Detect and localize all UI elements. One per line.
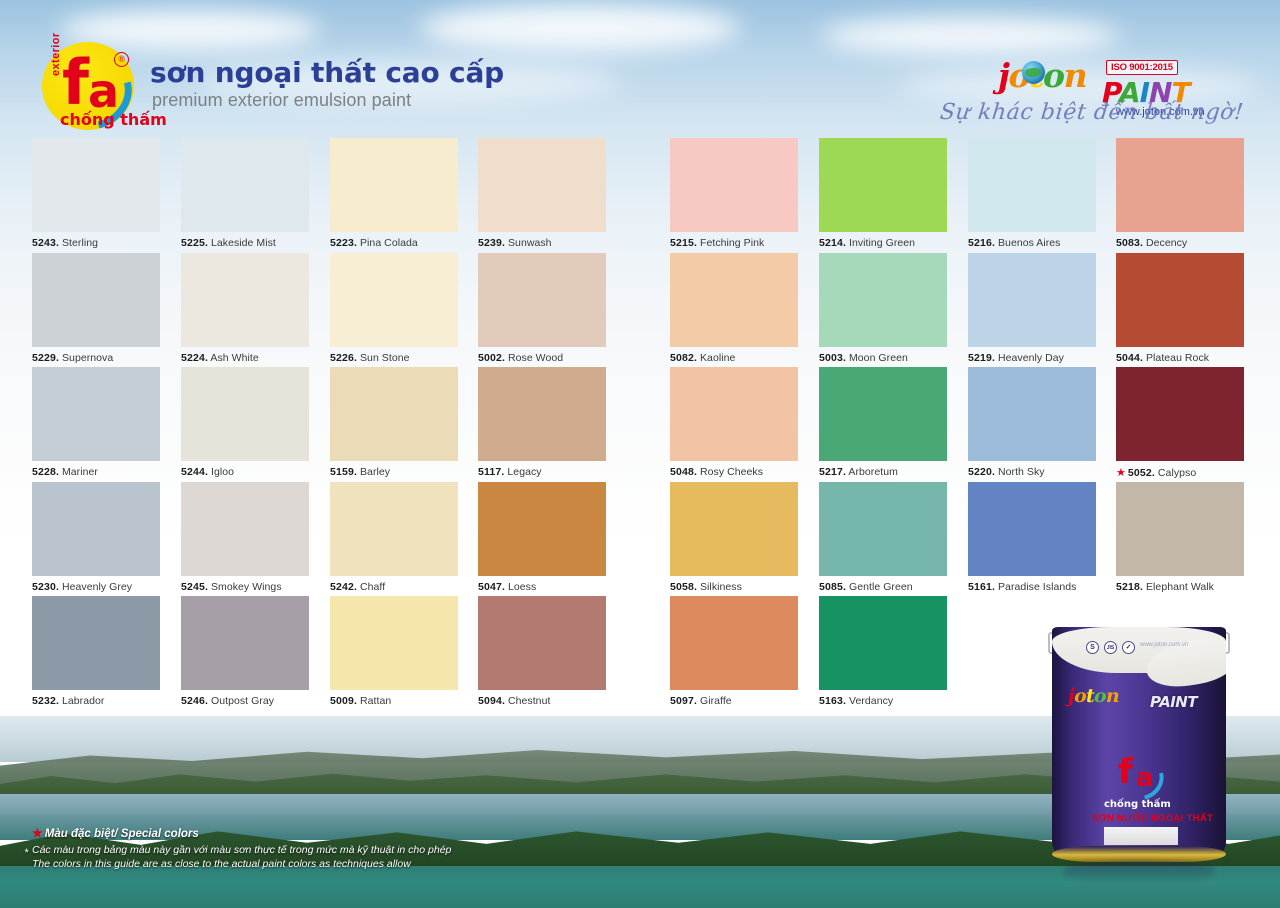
- color-caption: 5232. Labrador: [32, 695, 160, 707]
- color-swatch-cell[interactable]: 5223. Pina Colada: [330, 138, 458, 249]
- color-swatch[interactable]: [181, 138, 309, 232]
- color-row: 5229. Supernova5224. Ash White5226. Sun …: [0, 253, 1280, 368]
- can-body: S JIS ✓ www.joton.com.vn joton PAINT f a…: [1052, 627, 1226, 855]
- color-caption: 5002. Rose Wood: [478, 352, 606, 364]
- color-name: Buenos Aires: [998, 237, 1060, 249]
- color-name: Barley: [360, 466, 390, 478]
- color-swatch[interactable]: [968, 482, 1096, 576]
- color-swatch[interactable]: [181, 482, 309, 576]
- color-name: Heavenly Grey: [62, 581, 132, 593]
- color-swatch-cell[interactable]: 5225. Lakeside Mist: [181, 138, 309, 249]
- color-caption: 5239. Sunwash: [478, 237, 606, 249]
- logo-chongtham-label: chống thấm: [60, 110, 167, 129]
- color-code: 5117.: [478, 466, 504, 478]
- logo-letter-a: a: [88, 68, 119, 114]
- color-swatch-cell[interactable]: 5230. Heavenly Grey: [32, 482, 160, 593]
- color-swatch-cell[interactable]: 5219. Heavenly Day: [968, 253, 1096, 364]
- color-swatch-cell[interactable]: 5217. Arboretum: [819, 367, 947, 478]
- color-code: 5232.: [32, 695, 59, 707]
- color-caption: 5117. Legacy: [478, 466, 606, 478]
- color-code: 5246.: [181, 695, 208, 707]
- color-swatch-cell[interactable]: 5245. Smokey Wings: [181, 482, 309, 593]
- color-caption: 5085. Gentle Green: [819, 581, 947, 593]
- color-name: Paradise Islands: [998, 581, 1076, 593]
- color-swatch-cell[interactable]: 5229. Supernova: [32, 253, 160, 364]
- can-letter-o2: o: [1094, 685, 1106, 707]
- color-swatch-cell[interactable]: 5243. Sterling: [32, 138, 160, 249]
- color-swatch[interactable]: [670, 596, 798, 690]
- fa-brand-logo: f a ® exterior chống thấm: [36, 42, 144, 130]
- color-swatch-cell[interactable]: 5224. Ash White: [181, 253, 309, 364]
- legend-footer: ★Màu đặc biệt/ Special colors * Các màu …: [32, 826, 552, 871]
- color-name: Mariner: [62, 466, 98, 478]
- color-name: Elephant Walk: [1146, 581, 1214, 593]
- color-code: 5159.: [330, 466, 357, 478]
- color-swatch-cell[interactable]: 5117. Legacy: [478, 367, 606, 478]
- color-swatch-cell[interactable]: 5009. Rattan: [330, 596, 458, 707]
- color-code: 5243.: [32, 237, 59, 249]
- color-name: Gentle Green: [849, 581, 913, 593]
- color-swatch[interactable]: [968, 138, 1096, 232]
- color-caption: 5083. Decency: [1116, 237, 1244, 249]
- cert-badge-jis-icon: JIS: [1104, 641, 1117, 654]
- color-caption: 5058. Silkiness: [670, 581, 798, 593]
- color-name: Calypso: [1158, 467, 1196, 479]
- color-swatch-cell[interactable]: 5220. North Sky: [968, 367, 1096, 478]
- color-swatch[interactable]: [1116, 482, 1244, 576]
- color-swatch[interactable]: [330, 138, 458, 232]
- brand-tagline: Sự khác biệt đến bất ngờ!: [939, 100, 1245, 125]
- color-name: Loess: [508, 581, 536, 593]
- color-caption: 5225. Lakeside Mist: [181, 237, 309, 249]
- color-code: 5048.: [670, 466, 697, 478]
- color-caption: 5242. Chaff: [330, 581, 458, 593]
- color-name: Plateau Rock: [1146, 352, 1209, 364]
- color-swatch[interactable]: [32, 482, 160, 576]
- color-code: 5094.: [478, 695, 505, 707]
- color-code: 5217.: [819, 466, 846, 478]
- color-caption: 5159. Barley: [330, 466, 458, 478]
- color-caption: 5161. Paradise Islands: [968, 581, 1096, 593]
- color-swatch-cell[interactable]: 5161. Paradise Islands: [968, 482, 1096, 593]
- color-code: 5228.: [32, 466, 59, 478]
- color-name: Labrador: [62, 695, 104, 707]
- legend-note-vietnamese: * Các màu trong bảng màu này gần với màu…: [32, 843, 552, 857]
- color-caption: 5244. Igloo: [181, 466, 309, 478]
- color-caption: 5218. Elephant Walk: [1116, 581, 1244, 593]
- color-caption: 5097. Giraffe: [670, 695, 798, 707]
- color-code: 5230.: [32, 581, 59, 593]
- color-caption: 5229. Supernova: [32, 352, 160, 364]
- color-caption: 5214. Inviting Green: [819, 237, 947, 249]
- color-name: Silkiness: [700, 581, 742, 593]
- color-swatch[interactable]: [670, 482, 798, 576]
- color-caption: 5216. Buenos Aires: [968, 237, 1096, 249]
- color-name: Sunwash: [508, 237, 552, 249]
- color-code: 5245.: [181, 581, 208, 593]
- color-name: Supernova: [62, 352, 113, 364]
- can-chongtham-label: chống thấm: [1104, 799, 1171, 810]
- color-swatch[interactable]: [1116, 367, 1244, 461]
- color-code: 5226.: [330, 352, 357, 364]
- legend-special-colors: ★Màu đặc biệt/ Special colors: [32, 826, 552, 840]
- color-name: Pina Colada: [360, 237, 418, 249]
- joton-letter-n: n: [1064, 56, 1087, 95]
- color-row: 5243. Sterling5225. Lakeside Mist5223. P…: [0, 138, 1280, 253]
- logo-exterior-label: exterior: [50, 32, 62, 76]
- color-code: 5223.: [330, 237, 357, 249]
- color-code: 5044.: [1116, 352, 1143, 364]
- color-swatch[interactable]: [819, 253, 947, 347]
- color-name: Sterling: [62, 237, 98, 249]
- color-caption: ★5052. Calypso: [1116, 466, 1244, 479]
- can-color-label-area: [1104, 827, 1178, 845]
- color-code: 5219.: [968, 352, 995, 364]
- color-caption: 5246. Outpost Gray: [181, 695, 309, 707]
- legend-note-english: The colors in this guide are as close to…: [32, 857, 552, 871]
- color-swatch[interactable]: [478, 367, 606, 461]
- color-row: 5230. Heavenly Grey5245. Smokey Wings524…: [0, 482, 1280, 597]
- color-name: Legacy: [507, 466, 541, 478]
- color-swatch[interactable]: [32, 138, 160, 232]
- color-swatch-cell[interactable]: 5226. Sun Stone: [330, 253, 458, 364]
- color-caption: 5094. Chestnut: [478, 695, 606, 707]
- color-swatch-cell[interactable]: 5216. Buenos Aires: [968, 138, 1096, 249]
- star-icon: ★: [32, 826, 43, 840]
- color-name: Chestnut: [508, 695, 550, 707]
- color-swatch[interactable]: [819, 138, 947, 232]
- color-code: 5225.: [181, 237, 208, 249]
- color-name: Igloo: [211, 466, 234, 478]
- can-letter-o: o: [1074, 685, 1086, 707]
- joton-letter-o2: o: [1043, 56, 1064, 95]
- color-caption: 5009. Rattan: [330, 695, 458, 707]
- color-caption: 5226. Sun Stone: [330, 352, 458, 364]
- color-swatch[interactable]: [968, 253, 1096, 347]
- color-swatch[interactable]: [819, 482, 947, 576]
- color-code: 5224.: [181, 352, 208, 364]
- star-icon: ★: [1116, 467, 1126, 479]
- color-caption: 5224. Ash White: [181, 352, 309, 364]
- can-fa-letter-f: f: [1118, 755, 1133, 789]
- joton-letter-j: j: [998, 56, 1009, 95]
- color-swatch-cell[interactable]: 5047. Loess: [478, 482, 606, 593]
- color-code: 5083.: [1116, 237, 1143, 249]
- color-name: Rosy Cheeks: [700, 466, 763, 478]
- color-swatch-cell[interactable]: 5218. Elephant Walk: [1116, 482, 1244, 593]
- header: f a ® exterior chống thấm sơn ngoại thất…: [0, 0, 1280, 132]
- color-swatch-cell[interactable]: 5232. Labrador: [32, 596, 160, 707]
- globe-icon: [1022, 61, 1045, 84]
- color-caption: 5082. Kaoline: [670, 352, 798, 364]
- color-swatch-cell[interactable]: 5244. Igloo: [181, 367, 309, 478]
- color-swatch[interactable]: [478, 482, 606, 576]
- color-code: 5047.: [478, 581, 505, 593]
- paint-color-chart-page: f a ® exterior chống thấm sơn ngoại thất…: [0, 0, 1280, 908]
- color-name: Arboretum: [848, 466, 897, 478]
- color-swatch-cell[interactable]: 5215. Fetching Pink: [670, 138, 798, 249]
- color-swatch-cell[interactable]: 5163. Verdancy: [819, 596, 947, 707]
- color-caption: 5243. Sterling: [32, 237, 160, 249]
- color-swatch-cell[interactable]: 5228. Mariner: [32, 367, 160, 478]
- color-swatch[interactable]: [670, 253, 798, 347]
- color-code: 5214.: [819, 237, 846, 249]
- color-swatch[interactable]: [478, 253, 606, 347]
- can-letter-t: t: [1086, 685, 1094, 707]
- color-caption: 5003. Moon Green: [819, 352, 947, 364]
- color-swatch[interactable]: [478, 596, 606, 690]
- color-caption: 5163. Verdancy: [819, 695, 947, 707]
- color-swatch-cell[interactable]: 5058. Silkiness: [670, 482, 798, 593]
- color-name: Lakeside Mist: [211, 237, 276, 249]
- color-caption: 5215. Fetching Pink: [670, 237, 798, 249]
- color-code: 5242.: [330, 581, 357, 593]
- color-swatch[interactable]: [181, 253, 309, 347]
- color-swatch[interactable]: [330, 482, 458, 576]
- color-code: 5244.: [181, 466, 208, 478]
- color-swatch-cell[interactable]: 5082. Kaoline: [670, 253, 798, 364]
- color-name: Fetching Pink: [700, 237, 764, 249]
- color-row: 5228. Mariner5244. Igloo5159. Barley5117…: [0, 367, 1280, 482]
- color-swatch[interactable]: [330, 367, 458, 461]
- color-name: Outpost Gray: [211, 695, 274, 707]
- color-name: Giraffe: [700, 695, 732, 707]
- color-caption: 5047. Loess: [478, 581, 606, 593]
- color-code: 5161.: [968, 581, 995, 593]
- color-name: Moon Green: [849, 352, 908, 364]
- color-swatch[interactable]: [670, 367, 798, 461]
- can-letter-n: n: [1106, 685, 1119, 707]
- legend-special-label: Màu đặc biệt/ Special colors: [45, 828, 199, 840]
- color-name: Chaff: [360, 581, 385, 593]
- can-fa-swoosh-icon: [1140, 772, 1169, 799]
- color-caption: 5220. North Sky: [968, 466, 1096, 478]
- color-code: 5163.: [819, 695, 846, 707]
- color-code: 5085.: [819, 581, 846, 593]
- color-swatch-cell[interactable]: 5159. Barley: [330, 367, 458, 478]
- color-swatch-cell[interactable]: 5002. Rose Wood: [478, 253, 606, 364]
- color-code: 5229.: [32, 352, 59, 364]
- color-caption: 5228. Mariner: [32, 466, 160, 478]
- color-swatch[interactable]: [670, 138, 798, 232]
- iso-certification-badge: ISO 9001:2015: [1106, 60, 1178, 75]
- color-code: 5097.: [670, 695, 697, 707]
- color-code: 5239.: [478, 237, 505, 249]
- color-caption: 5217. Arboretum: [819, 466, 947, 478]
- color-caption: 5230. Heavenly Grey: [32, 581, 160, 593]
- color-name: Rattan: [360, 695, 391, 707]
- bullet-icon: *: [24, 846, 28, 861]
- color-swatch-cell[interactable]: 5246. Outpost Gray: [181, 596, 309, 707]
- page-subtitle-english: premium exterior emulsion paint: [152, 90, 411, 111]
- color-swatch[interactable]: [181, 367, 309, 461]
- color-swatch-cell[interactable]: 5044. Plateau Rock: [1116, 253, 1244, 364]
- color-swatch-cell[interactable]: ★5052. Calypso: [1116, 367, 1244, 479]
- color-code: 5216.: [968, 237, 995, 249]
- color-caption: 5245. Smokey Wings: [181, 581, 309, 593]
- color-swatch[interactable]: [330, 596, 458, 690]
- color-swatch[interactable]: [181, 596, 309, 690]
- color-swatch[interactable]: [968, 367, 1096, 461]
- color-swatch-cell[interactable]: 5048. Rosy Cheeks: [670, 367, 798, 478]
- color-name: Heavenly Day: [998, 352, 1064, 364]
- color-swatch[interactable]: [1116, 253, 1244, 347]
- cert-badge-s-icon: S: [1086, 641, 1099, 654]
- color-code: 5058.: [670, 581, 697, 593]
- color-name: North Sky: [998, 466, 1045, 478]
- color-caption: 5044. Plateau Rock: [1116, 352, 1244, 364]
- color-name: Sun Stone: [360, 352, 410, 364]
- color-swatch[interactable]: [819, 367, 947, 461]
- color-code: 5003.: [819, 352, 846, 364]
- color-name: Ash White: [210, 352, 258, 364]
- color-swatch-cell[interactable]: 5003. Moon Green: [819, 253, 947, 364]
- color-code: 5002.: [478, 352, 505, 364]
- paint-can-product-image: S JIS ✓ www.joton.com.vn joton PAINT f a…: [1048, 616, 1230, 868]
- color-name: Verdancy: [849, 695, 893, 707]
- color-swatch-cell[interactable]: 5083. Decency: [1116, 138, 1244, 249]
- page-title-vietnamese: sơn ngoại thất cao cấp: [150, 56, 504, 89]
- color-caption: 5219. Heavenly Day: [968, 352, 1096, 364]
- color-swatch[interactable]: [478, 138, 606, 232]
- color-code: 5009.: [330, 695, 357, 707]
- color-swatch-cell[interactable]: 5094. Chestnut: [478, 596, 606, 707]
- color-name: Inviting Green: [849, 237, 915, 249]
- registered-trademark-icon: ®: [114, 52, 129, 67]
- color-name: Decency: [1146, 237, 1187, 249]
- logo-letter-f: f: [62, 52, 86, 114]
- color-swatch[interactable]: [32, 367, 160, 461]
- color-caption: 5223. Pina Colada: [330, 237, 458, 249]
- color-code: 5220.: [968, 466, 995, 478]
- cert-badge-check-icon: ✓: [1122, 641, 1135, 654]
- can-joton-wordmark: joton: [1068, 685, 1119, 707]
- color-code: 5215.: [670, 237, 697, 249]
- color-code: 5082.: [670, 352, 697, 364]
- can-white-panel: [1052, 627, 1226, 673]
- color-code: 5052.: [1128, 467, 1155, 479]
- color-swatch[interactable]: [819, 596, 947, 690]
- color-swatch-cell[interactable]: 5242. Chaff: [330, 482, 458, 593]
- can-product-line-label: SƠN NƯỚC NGOẠI THẤT: [1092, 813, 1213, 824]
- color-swatch[interactable]: [330, 253, 458, 347]
- color-name: Kaoline: [700, 352, 735, 364]
- color-swatch[interactable]: [32, 596, 160, 690]
- color-name: Rose Wood: [508, 352, 563, 364]
- color-swatch-cell[interactable]: 5097. Giraffe: [670, 596, 798, 707]
- legend-note-vi-text: Các màu trong bảng màu này gần với màu s…: [32, 844, 451, 856]
- color-caption: 5048. Rosy Cheeks: [670, 466, 798, 478]
- color-swatch-cell[interactable]: 5239. Sunwash: [478, 138, 606, 249]
- color-swatch-cell[interactable]: 5085. Gentle Green: [819, 482, 947, 593]
- color-name: Smokey Wings: [211, 581, 282, 593]
- can-reflection: [1064, 860, 1214, 884]
- color-swatch-cell[interactable]: 5214. Inviting Green: [819, 138, 947, 249]
- can-paint-wordmark: PAINT: [1150, 693, 1197, 711]
- can-fa-logo: f a: [1116, 755, 1172, 803]
- color-code: 5218.: [1116, 581, 1143, 593]
- can-website-url: www.joton.com.vn: [1140, 642, 1188, 648]
- color-swatch[interactable]: [1116, 138, 1244, 232]
- color-swatch[interactable]: [32, 253, 160, 347]
